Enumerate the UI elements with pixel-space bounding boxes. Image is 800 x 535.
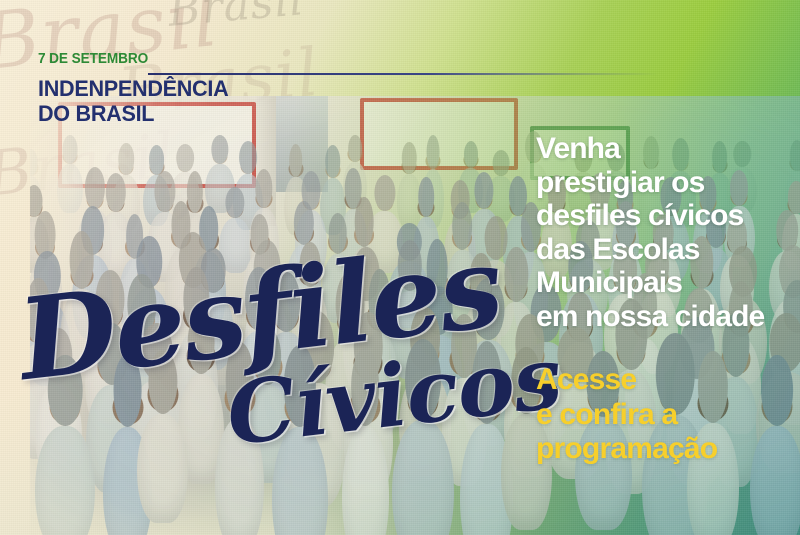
cta-line-3: programação [536,432,800,467]
headline-line-5: Municipais [536,266,800,300]
header-title-line-1: INDENPENDÊNCIA [38,76,228,101]
cta-block[interactable]: Acesse e confira a programação [536,363,800,467]
headline-line-2: prestigiar os [536,166,800,200]
headline-line-4: das Escolas [536,233,800,267]
header-block: 7 DE SETEMBRO INDENPENDÊNCIA DO BRASIL [38,52,236,126]
headline-line-1: Venha [536,132,800,166]
header-kicker: 7 DE SETEMBRO [38,52,224,67]
script-title-line-2: Cívicos [223,345,502,454]
poster-canvas: Brasil Brasil Brasil Brasil Brasil 7 DE … [0,0,800,535]
cta-line-2: e confira a [536,398,800,433]
headline-line-6: em nossa cidade [536,300,800,334]
cta-line-1: Acesse [536,363,800,398]
headline-line-3: desfiles cívicos [536,199,800,233]
copy-block: Venha prestigiar os desfiles cívicos das… [536,132,800,467]
header-title-line-2: DO BRASIL [38,101,228,126]
